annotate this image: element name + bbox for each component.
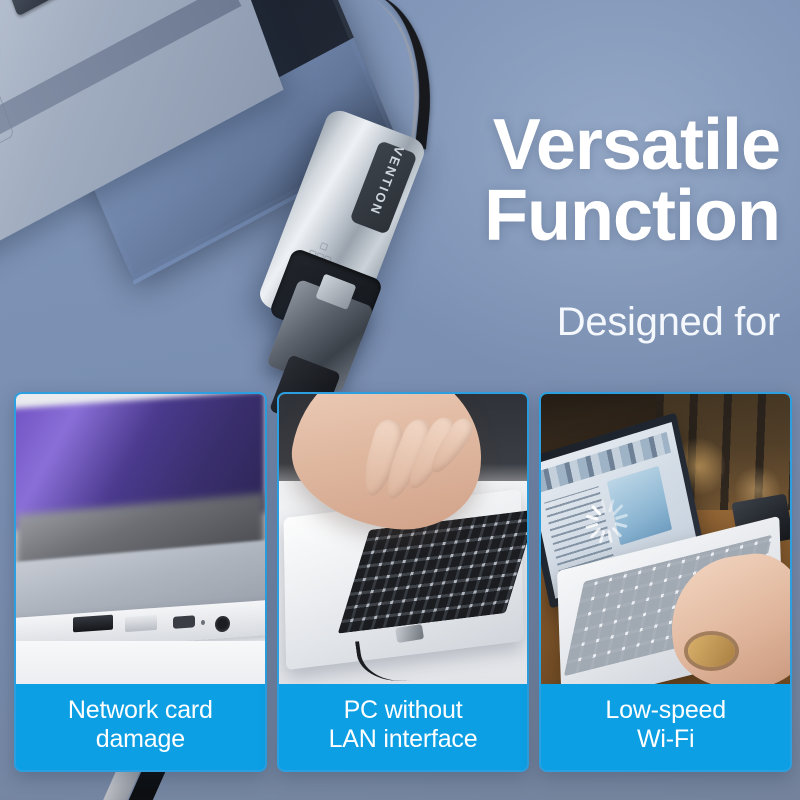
subheadline: Designed for (350, 300, 780, 345)
use-case-cards: Network card damage PC withou (14, 392, 792, 772)
headline-line-1: Versatile (350, 110, 780, 181)
caption-line-2: Wi-Fi (547, 725, 784, 754)
hdmi-port (73, 614, 113, 632)
laptop-side-ports-photo (16, 394, 265, 684)
caption-line-2: LAN interface (285, 725, 522, 754)
card-caption: PC without LAN interface (279, 684, 528, 770)
card-caption: Low-speed Wi-Fi (541, 684, 790, 770)
headline-line-2: Function (350, 181, 780, 252)
caption-line-1: PC without (285, 696, 522, 725)
wristwatch (688, 635, 735, 667)
caption-line-1: Low-speed (547, 696, 784, 725)
caption-line-1: Network card (22, 696, 259, 725)
hand-on-laptop-photo (279, 394, 528, 684)
use-case-card-pc-without-lan[interactable]: PC without LAN interface (277, 392, 530, 772)
usb-a-port (125, 615, 157, 632)
use-case-card-network-card-damage[interactable]: Network card damage (14, 392, 267, 772)
product-banner: shift shift VENTION Versatile Function D… (0, 0, 800, 800)
laptop-loading-wifi-photo (541, 394, 790, 684)
page-title: Versatile Function (350, 110, 780, 251)
use-case-card-low-speed-wifi[interactable]: Low-speed Wi-Fi (539, 392, 792, 772)
desk-surface (16, 641, 265, 685)
usb-c-port (173, 615, 195, 629)
card-caption: Network card damage (16, 684, 265, 770)
caption-line-2: damage (22, 725, 259, 754)
